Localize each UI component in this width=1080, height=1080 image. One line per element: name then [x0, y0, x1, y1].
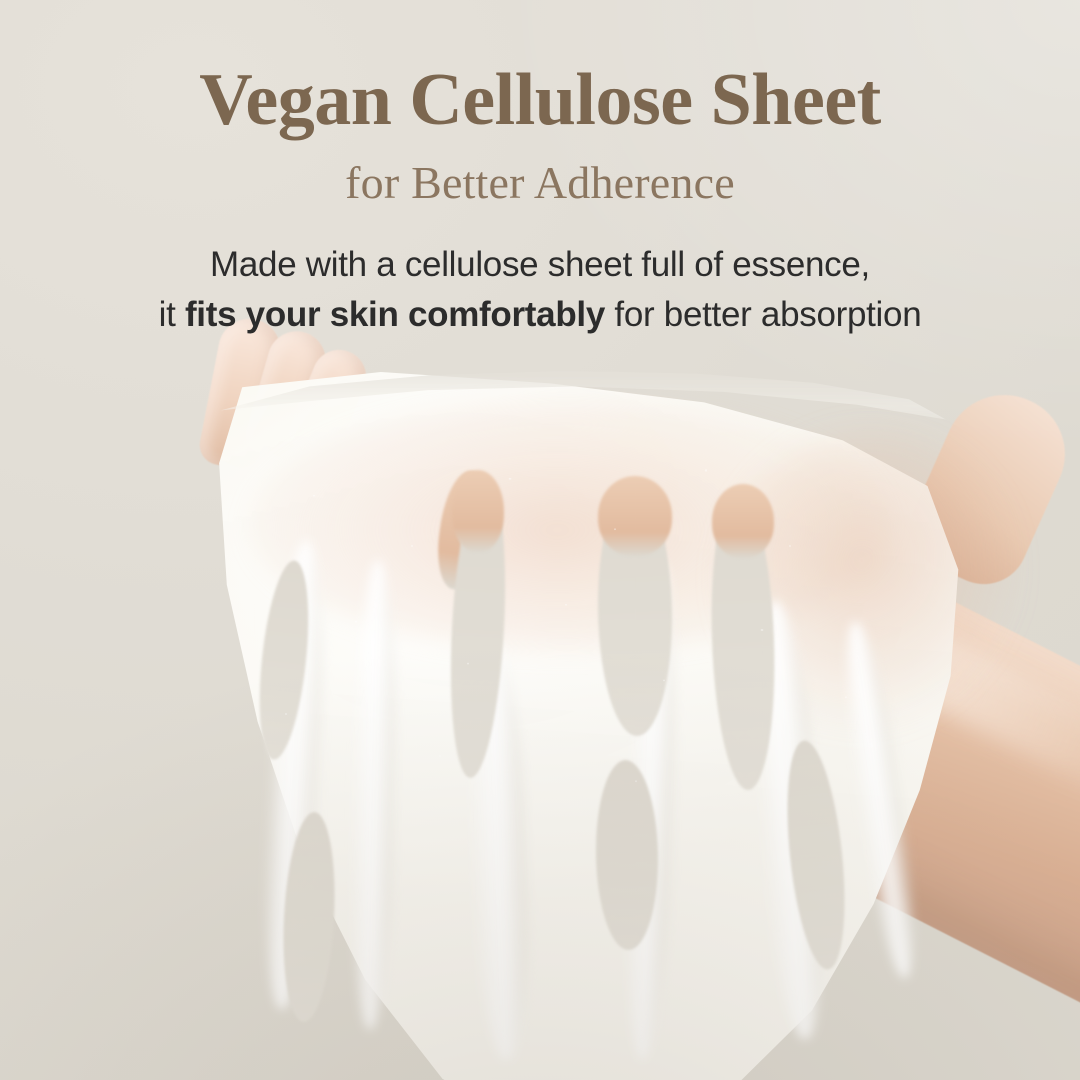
body-copy-line-2-suffix: for better absorption	[605, 295, 921, 334]
promo-banner: Vegan Cellulose Sheet for Better Adheren…	[0, 0, 1080, 1080]
page-subtitle: for Better Adherence	[0, 158, 1080, 209]
body-copy-line-2-prefix: it	[159, 295, 185, 334]
body-copy-line-1: Made with a cellulose sheet full of esse…	[0, 240, 1080, 290]
text-overlay: Vegan Cellulose Sheet for Better Adheren…	[0, 0, 1080, 1080]
body-copy-emphasis: fits your skin comfortably	[185, 295, 605, 334]
body-copy-line-2: it fits your skin comfortably for better…	[0, 290, 1080, 340]
body-copy: Made with a cellulose sheet full of esse…	[0, 240, 1080, 339]
page-title: Vegan Cellulose Sheet	[0, 62, 1080, 140]
